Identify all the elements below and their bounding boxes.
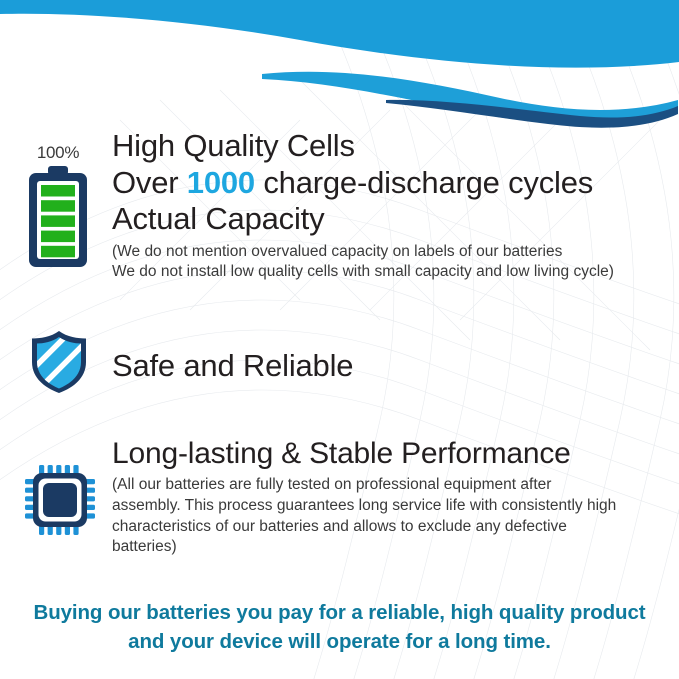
body-line-performance-2: assembly. This process guarantees long s…	[112, 496, 616, 517]
microchip-icon-group	[24, 464, 96, 541]
section-safe-and-reliable: Safe and Reliable	[112, 348, 353, 385]
heading-charge-cycles: Over 1000 charge-discharge cycles	[112, 165, 614, 202]
footer-line-2: and your device will operate for a long …	[0, 627, 679, 656]
body-line-performance-3: characteristics of our batteries and all…	[112, 517, 616, 538]
body-line-performance-1: (All our batteries are fully tested on p…	[112, 475, 616, 496]
shield-icon-group	[28, 330, 90, 399]
heading-safe-and-reliable: Safe and Reliable	[112, 348, 353, 385]
footer-line-1: Buying our batteries you pay for a relia…	[0, 598, 679, 627]
microchip-icon	[24, 464, 96, 536]
body-line-capacity-1: (We do not mention overvalued capacity o…	[112, 242, 614, 263]
heading-long-lasting-performance: Long-lasting & Stable Performance	[112, 436, 616, 471]
body-line-performance-4: batteries)	[112, 537, 616, 558]
heading-charge-cycles-prefix: Over	[112, 165, 187, 200]
battery-icon-group: 100%	[26, 143, 90, 274]
heading-charge-cycles-suffix: charge-discharge cycles	[255, 165, 593, 200]
cycle-count-value: 1000	[187, 165, 255, 200]
body-line-capacity-2: We do not install low quality cells with…	[112, 262, 614, 283]
section-high-quality-cells: High Quality Cells Over 1000 charge-disc…	[112, 128, 614, 283]
heading-high-quality-cells: High Quality Cells	[112, 128, 614, 165]
heading-actual-capacity: Actual Capacity	[112, 201, 614, 238]
footer-tagline: Buying our batteries you pay for a relia…	[0, 598, 679, 656]
product-infographic: 100% High Quality Cells Over 1000 charge…	[0, 0, 679, 679]
battery-percent-label: 100%	[26, 143, 90, 163]
section-long-lasting-performance: Long-lasting & Stable Performance (All o…	[112, 436, 616, 558]
battery-full-icon	[26, 165, 90, 269]
shield-icon	[28, 330, 90, 394]
